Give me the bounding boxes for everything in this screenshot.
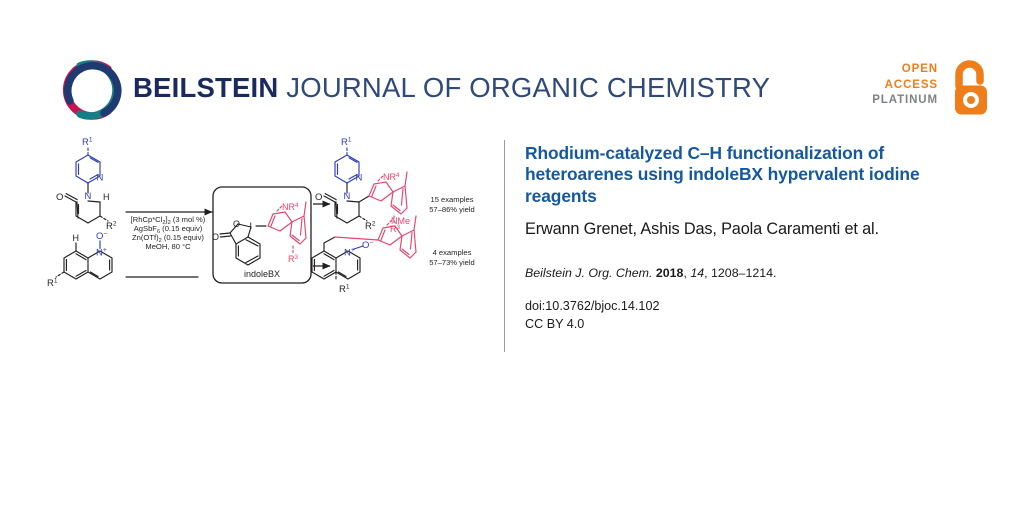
scheme-label-n-c: N xyxy=(356,173,363,184)
scheme-label-i: I xyxy=(250,221,253,231)
result-yield-2: 57–73% yield xyxy=(429,258,475,267)
svg-text:MeOH, 80 °C: MeOH, 80 °C xyxy=(145,242,191,251)
scheme-label-o-minus-a: O− xyxy=(96,230,107,242)
scheme-label-n-plus-a: N+ xyxy=(96,247,107,259)
citation-volume: 14 xyxy=(690,266,704,280)
result-examples-1: 15 examples xyxy=(430,195,473,204)
open-access-label: OPEN ACCESS PLATINUM xyxy=(872,62,938,109)
citation-year: 2018 xyxy=(656,266,684,280)
article-doi[interactable]: doi:10.3762/bjoc.14.102 xyxy=(525,298,985,316)
scheme-label-nme: NMe xyxy=(391,216,410,226)
open-access-line2: ACCESS xyxy=(885,79,938,91)
scheme-label-h-a: H xyxy=(103,192,110,202)
scheme-label-r1-d: R1 xyxy=(339,284,350,295)
citation-journal: Beilstein J. Org. Chem. xyxy=(525,266,652,280)
scheme-label-o-a: O xyxy=(56,192,63,203)
scheme-label-r1-a: R1 xyxy=(82,137,93,148)
citation-pages: 1208–1214. xyxy=(711,266,776,280)
column-divider xyxy=(504,140,505,352)
indolebx-box-label: indoleBX xyxy=(244,269,280,279)
scheme-label-n-b: N xyxy=(85,191,92,202)
article-authors: Erwann Grenet, Ashis Das, Paola Carament… xyxy=(525,219,985,239)
article-license[interactable]: CC BY 4.0 xyxy=(525,316,985,334)
open-access-line1: OPEN xyxy=(902,63,938,75)
scheme-label-nr4-b: NR4 xyxy=(383,172,400,182)
journal-wordmark: BEILSTEIN JOURNAL OF ORGANIC CHEMISTRY xyxy=(133,71,770,105)
scheme-label-o-b: O xyxy=(233,219,240,229)
scheme-label-h-b: H xyxy=(73,233,80,243)
scheme-label-r2-a: R2 xyxy=(106,221,117,232)
scheme-label-n-a: N xyxy=(97,173,104,184)
scheme-label-r1-c: R1 xyxy=(341,137,352,148)
result-examples-2: 4 examples xyxy=(433,248,472,257)
beilstein-swirl-logo xyxy=(58,57,124,123)
result-yield-1: 57–86% yield xyxy=(429,205,475,214)
scheme-conditions: [RhCp*Cl2]2 (3 mol %) AgSbF6 (0.15 equiv… xyxy=(131,215,206,251)
article-metadata: Rhodium-catalyzed C–H functionalization … xyxy=(525,143,985,333)
scheme-label-o-d: O xyxy=(315,192,322,203)
scheme-label-n-plus-b: N+ xyxy=(344,247,355,259)
article-citation: Beilstein J. Org. Chem. 2018, 14, 1208–1… xyxy=(525,265,985,281)
wordmark-journal-of-organic-chemistry: JOURNAL OF ORGANIC CHEMISTRY xyxy=(278,72,770,103)
article-title[interactable]: Rhodium-catalyzed C–H functionalization … xyxy=(525,143,985,207)
open-access-line3: PLATINUM xyxy=(872,93,938,109)
scheme-label-o-c: O xyxy=(212,232,219,242)
wordmark-beilstein: BEILSTEIN xyxy=(133,72,278,103)
citation-sep3: , xyxy=(704,266,711,280)
scheme-label-n-d: N xyxy=(344,191,351,202)
scheme-label-o-minus-b: O− xyxy=(362,239,373,251)
scheme-label-r2-b: R2 xyxy=(365,221,376,232)
indolebx-reagent-box: O O I R3 NR4 indoleBX xyxy=(212,187,311,283)
open-access-badge: OPEN ACCESS PLATINUM xyxy=(866,60,996,122)
masthead: BEILSTEIN JOURNAL OF ORGANIC CHEMISTRY O… xyxy=(0,0,1024,140)
scheme-label-r1-b: R1 xyxy=(47,278,58,289)
open-padlock-icon xyxy=(946,60,996,118)
reaction-scheme-graphic: R1 N N O H R2 xyxy=(30,132,500,337)
